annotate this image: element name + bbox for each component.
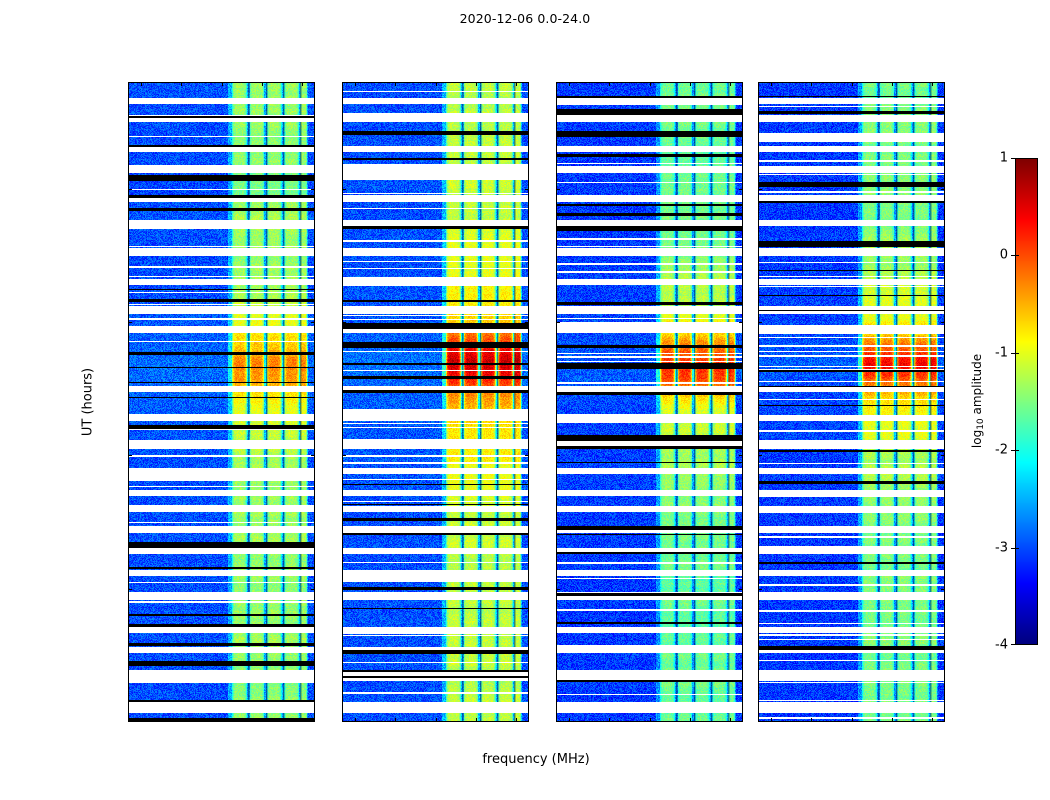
x-axis-label: frequency (MHz)	[482, 752, 589, 767]
panel-xx-xtick-top	[181, 82, 182, 86]
y-axis-label: UT (hours)	[81, 368, 96, 436]
colorbar-label-sub: 10	[976, 418, 986, 429]
panel-xx-ytick	[128, 455, 132, 456]
panel-yx-xtick-top	[932, 82, 933, 86]
figure-suptitle: 2020-12-06 0.0-24.0	[0, 11, 1050, 26]
panel-xy-ytick-right	[739, 189, 743, 190]
panel-yx-ytick	[758, 455, 762, 456]
panel-yy-ytick-right	[525, 189, 529, 190]
panel-yy-ytick-right	[525, 589, 529, 590]
panel-yx-ytick-right	[941, 455, 945, 456]
colorbar-tick-label: 1	[1000, 151, 1008, 166]
colorbar-tick-inner	[1015, 644, 1019, 645]
panel-yx-xtick	[852, 718, 853, 722]
panel-yx-xtick	[932, 718, 933, 722]
panel-xy-xtick-top	[650, 82, 651, 86]
panel-xx-xtick-top	[262, 82, 263, 86]
panel-xx-ytick-right	[311, 322, 315, 323]
panel-xy-xtick	[650, 718, 651, 722]
panel-xy-xtick-top	[609, 82, 610, 86]
panel-yy-ytick-right	[525, 455, 529, 456]
panel-xx[interactable]: XX, V9*V13=EA11*EA1532033535036538005101…	[128, 82, 315, 722]
panel-xx-xtick-top	[302, 82, 303, 86]
colorbar-tick-inner	[1015, 255, 1019, 256]
panel-yx-xtick	[811, 718, 812, 722]
colorbar-label: log10 amplitude	[970, 354, 986, 448]
panel-yy-waterfall-image	[342, 82, 529, 722]
panel-yx-xtick	[771, 718, 772, 722]
panel-xx-xtick	[262, 718, 263, 722]
panel-yx-xtick-top	[892, 82, 893, 86]
panel-yx-ytick	[758, 322, 762, 323]
panel-yx-ytick-right	[941, 189, 945, 190]
panel-yy[interactable]: YY, V9*V13=EA11*EA1532033535036538005101…	[342, 82, 529, 722]
panel-yy-xtick	[395, 718, 396, 722]
panel-xx-ytick-right	[311, 189, 315, 190]
panel-yy-xtick	[436, 718, 437, 722]
panel-xy-xtick	[609, 718, 610, 722]
panel-yx-ytick-right	[941, 322, 945, 323]
colorbar-tick-inner	[1015, 548, 1019, 549]
panel-yy-ytick	[342, 322, 346, 323]
panel-xx-ytick	[128, 589, 132, 590]
colorbar-label-tail: amplitude	[970, 354, 984, 418]
colorbar-tick-label: -4	[995, 638, 1008, 653]
panel-xy-ytick	[556, 455, 560, 456]
panel-yy-xtick	[516, 718, 517, 722]
panel-xx-xtick	[141, 718, 142, 722]
colorbar-tick-inner	[1015, 450, 1019, 451]
panel-yx-waterfall-image	[758, 82, 945, 722]
colorbar-label-base: log	[970, 430, 984, 448]
panel-yy-xtick	[476, 718, 477, 722]
panel-xx-waterfall-image	[128, 82, 315, 722]
panel-xy-xtick	[730, 718, 731, 722]
colorbar-tick-label: -3	[995, 540, 1008, 555]
panel-yy-xtick-top	[476, 82, 477, 86]
colorbar-tick-label: -2	[995, 443, 1008, 458]
panel-yx-ytick-right	[941, 589, 945, 590]
panel-xx-xtick	[302, 718, 303, 722]
colorbar-tick-label: 0	[1000, 248, 1008, 263]
waterfall-figure: 2020-12-06 0.0-24.0 XX, V9*V13=EA11*EA15…	[0, 0, 1050, 800]
panel-xy-ytick	[556, 322, 560, 323]
colorbar-tick-inner	[1015, 353, 1019, 354]
panel-yy-xtick-top	[516, 82, 517, 86]
panel-yy-ytick-right	[525, 322, 529, 323]
panel-xy-xtick-top	[730, 82, 731, 86]
panel-xx-xtick	[181, 718, 182, 722]
panel-xy-ytick-right	[739, 322, 743, 323]
panel-xx-ytick-right	[311, 455, 315, 456]
panel-xx-ytick	[128, 189, 132, 190]
panel-xy-waterfall-image	[556, 82, 743, 722]
colorbar-tick-inner	[1015, 158, 1019, 159]
panel-xx-xtick-top	[222, 82, 223, 86]
panel-xy-xtick-top	[569, 82, 570, 86]
colorbar[interactable]: -4-3-2-101	[1015, 158, 1038, 645]
panel-yy-ytick	[342, 189, 346, 190]
panel-xx-ytick-right	[311, 589, 315, 590]
panel-yy-xtick-top	[355, 82, 356, 86]
panel-xy-xtick	[690, 718, 691, 722]
panel-xx-xtick-top	[141, 82, 142, 86]
panel-xy-xtick-top	[690, 82, 691, 86]
panel-yy-ytick	[342, 589, 346, 590]
colorbar-gradient	[1015, 158, 1038, 645]
panel-xy[interactable]: XY, V9*V13=EA11*EA1532033535036538005101…	[556, 82, 743, 722]
panel-xy-ytick-right	[739, 455, 743, 456]
panel-xy-xtick	[569, 718, 570, 722]
panel-yy-xtick	[355, 718, 356, 722]
panel-xx-ytick	[128, 322, 132, 323]
panel-yy-xtick-top	[395, 82, 396, 86]
panel-yy-xtick-top	[436, 82, 437, 86]
panel-xx-xtick	[222, 718, 223, 722]
panel-xy-ytick-right	[739, 589, 743, 590]
panel-yx[interactable]: YX, V9*V13=EA11*EA1532033535036538005101…	[758, 82, 945, 722]
panel-yx-ytick	[758, 589, 762, 590]
panel-yx-xtick-top	[852, 82, 853, 86]
panel-yx-ytick	[758, 189, 762, 190]
panel-xy-ytick	[556, 589, 560, 590]
panel-yx-xtick-top	[771, 82, 772, 86]
colorbar-tick-label: -1	[995, 345, 1008, 360]
panel-yx-xtick-top	[811, 82, 812, 86]
panel-xy-ytick	[556, 189, 560, 190]
panel-yy-ytick	[342, 455, 346, 456]
panel-yx-xtick	[892, 718, 893, 722]
